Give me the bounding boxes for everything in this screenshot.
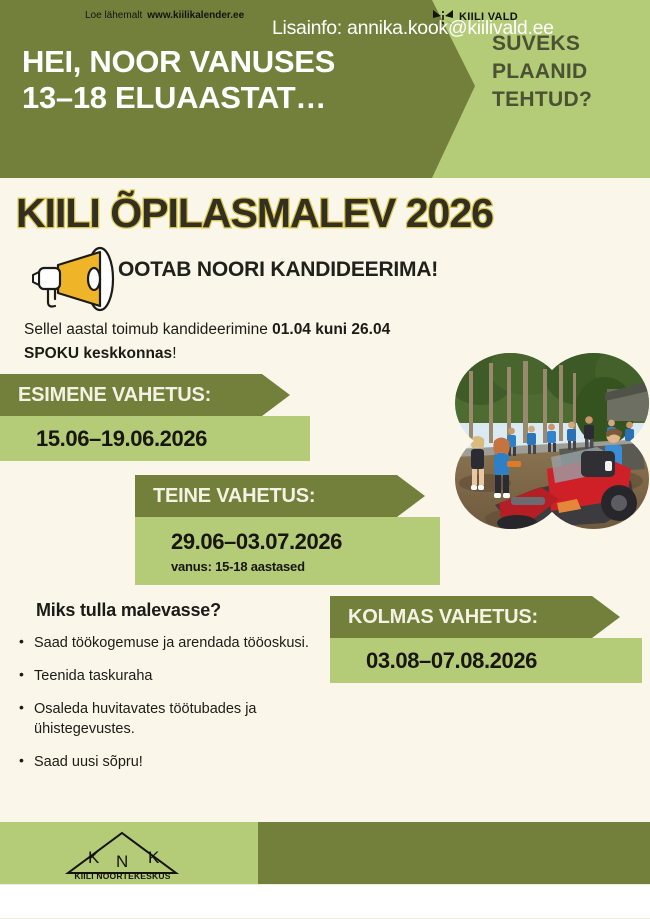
shift-1-date: 15.06–19.06.2026: [36, 426, 310, 452]
shift-1-heading-banner: ESIMENE VAHETUS:: [0, 374, 290, 416]
application-info-text: Sellel aastal toimub kandideerimine 01.0…: [24, 318, 484, 365]
list-item: Saad uusi sõpru!: [18, 752, 328, 772]
application-period: 01.04 kuni 26.04: [272, 321, 390, 338]
read-more-text: Loe lähemaltwww.kiilikalender.ee: [85, 10, 244, 21]
poster-title: KIILI ÕPILASMALEV 2026: [16, 190, 646, 237]
list-item: Osaleda huvitavates töötubades ja ühiste…: [18, 699, 328, 739]
shift-2-date: 29.06–03.07.2026: [171, 529, 440, 555]
shift-3-body: 03.08–07.08.2026: [330, 638, 642, 683]
read-more-label: Loe lähemalt: [85, 10, 142, 21]
header-question: SUVEKS PLAANID TEHTUD?: [492, 30, 642, 114]
benefits-title: Miks tulla malevasse?: [36, 600, 221, 621]
shift-1-body: 15.06–19.06.2026: [0, 416, 310, 461]
shift-3-heading: KOLMAS VAHETUS:: [348, 606, 538, 629]
benefits-list: Saad töökogemuse ja arendada tööoskusi. …: [18, 633, 328, 785]
header-question-line2: PLAANID: [492, 58, 642, 86]
footer-dark-panel: [258, 822, 650, 884]
application-platform: SPOKU keskkonnas: [24, 345, 172, 362]
list-item: Teenida taskuraha: [18, 666, 328, 686]
shift-2-age-note: vanus: 15-18 aastased: [171, 559, 440, 574]
shift-3-date: 03.08–07.08.2026: [366, 648, 642, 674]
application-info-line1-plain: Sellel aastal toimub kandideerimine: [24, 321, 272, 338]
poster-subtitle: OOTAB NOORI KANDIDEERIMA!: [118, 258, 438, 282]
shift-2-body: 29.06–03.07.2026 vanus: 15-18 aastased: [135, 517, 440, 585]
kiili-vald-label: KIILI VALD: [459, 11, 518, 23]
shift-1-heading: ESIMENE VAHETUS:: [18, 384, 211, 407]
bottom-bar: [0, 884, 650, 919]
read-more-url[interactable]: www.kiilikalender.ee: [147, 10, 244, 21]
kiili-noortekeskus-caption: KIILI NOORTEKESKUS: [60, 871, 185, 881]
header-question-line3: TEHTUD?: [492, 86, 642, 114]
application-info-tail: !: [172, 345, 176, 362]
header-headline: HEI, NOOR VANUSES 13–18 ELUAASTAT…: [22, 44, 432, 116]
megaphone-icon: [24, 246, 124, 312]
svg-text:K: K: [148, 848, 160, 867]
svg-text:N: N: [116, 852, 128, 871]
header-headline-line1: HEI, NOOR VANUSES: [22, 44, 432, 80]
svg-text:K: K: [88, 848, 100, 867]
camp-photo: [455, 353, 649, 529]
header-headline-line2: 13–18 ELUAASTAT…: [22, 80, 432, 116]
list-item: Saad töökogemuse ja arendada tööoskusi.: [18, 633, 328, 653]
photo-clover: [455, 353, 649, 529]
shift-2-heading: TEINE VAHETUS:: [153, 485, 315, 508]
shift-3-heading-banner: KOLMAS VAHETUS:: [330, 596, 620, 638]
shift-2-heading-banner: TEINE VAHETUS:: [135, 475, 425, 517]
kiili-vald-butterfly-icon: [432, 9, 454, 26]
poster-root: HEI, NOOR VANUSES 13–18 ELUAASTAT… SUVEK…: [0, 0, 650, 919]
